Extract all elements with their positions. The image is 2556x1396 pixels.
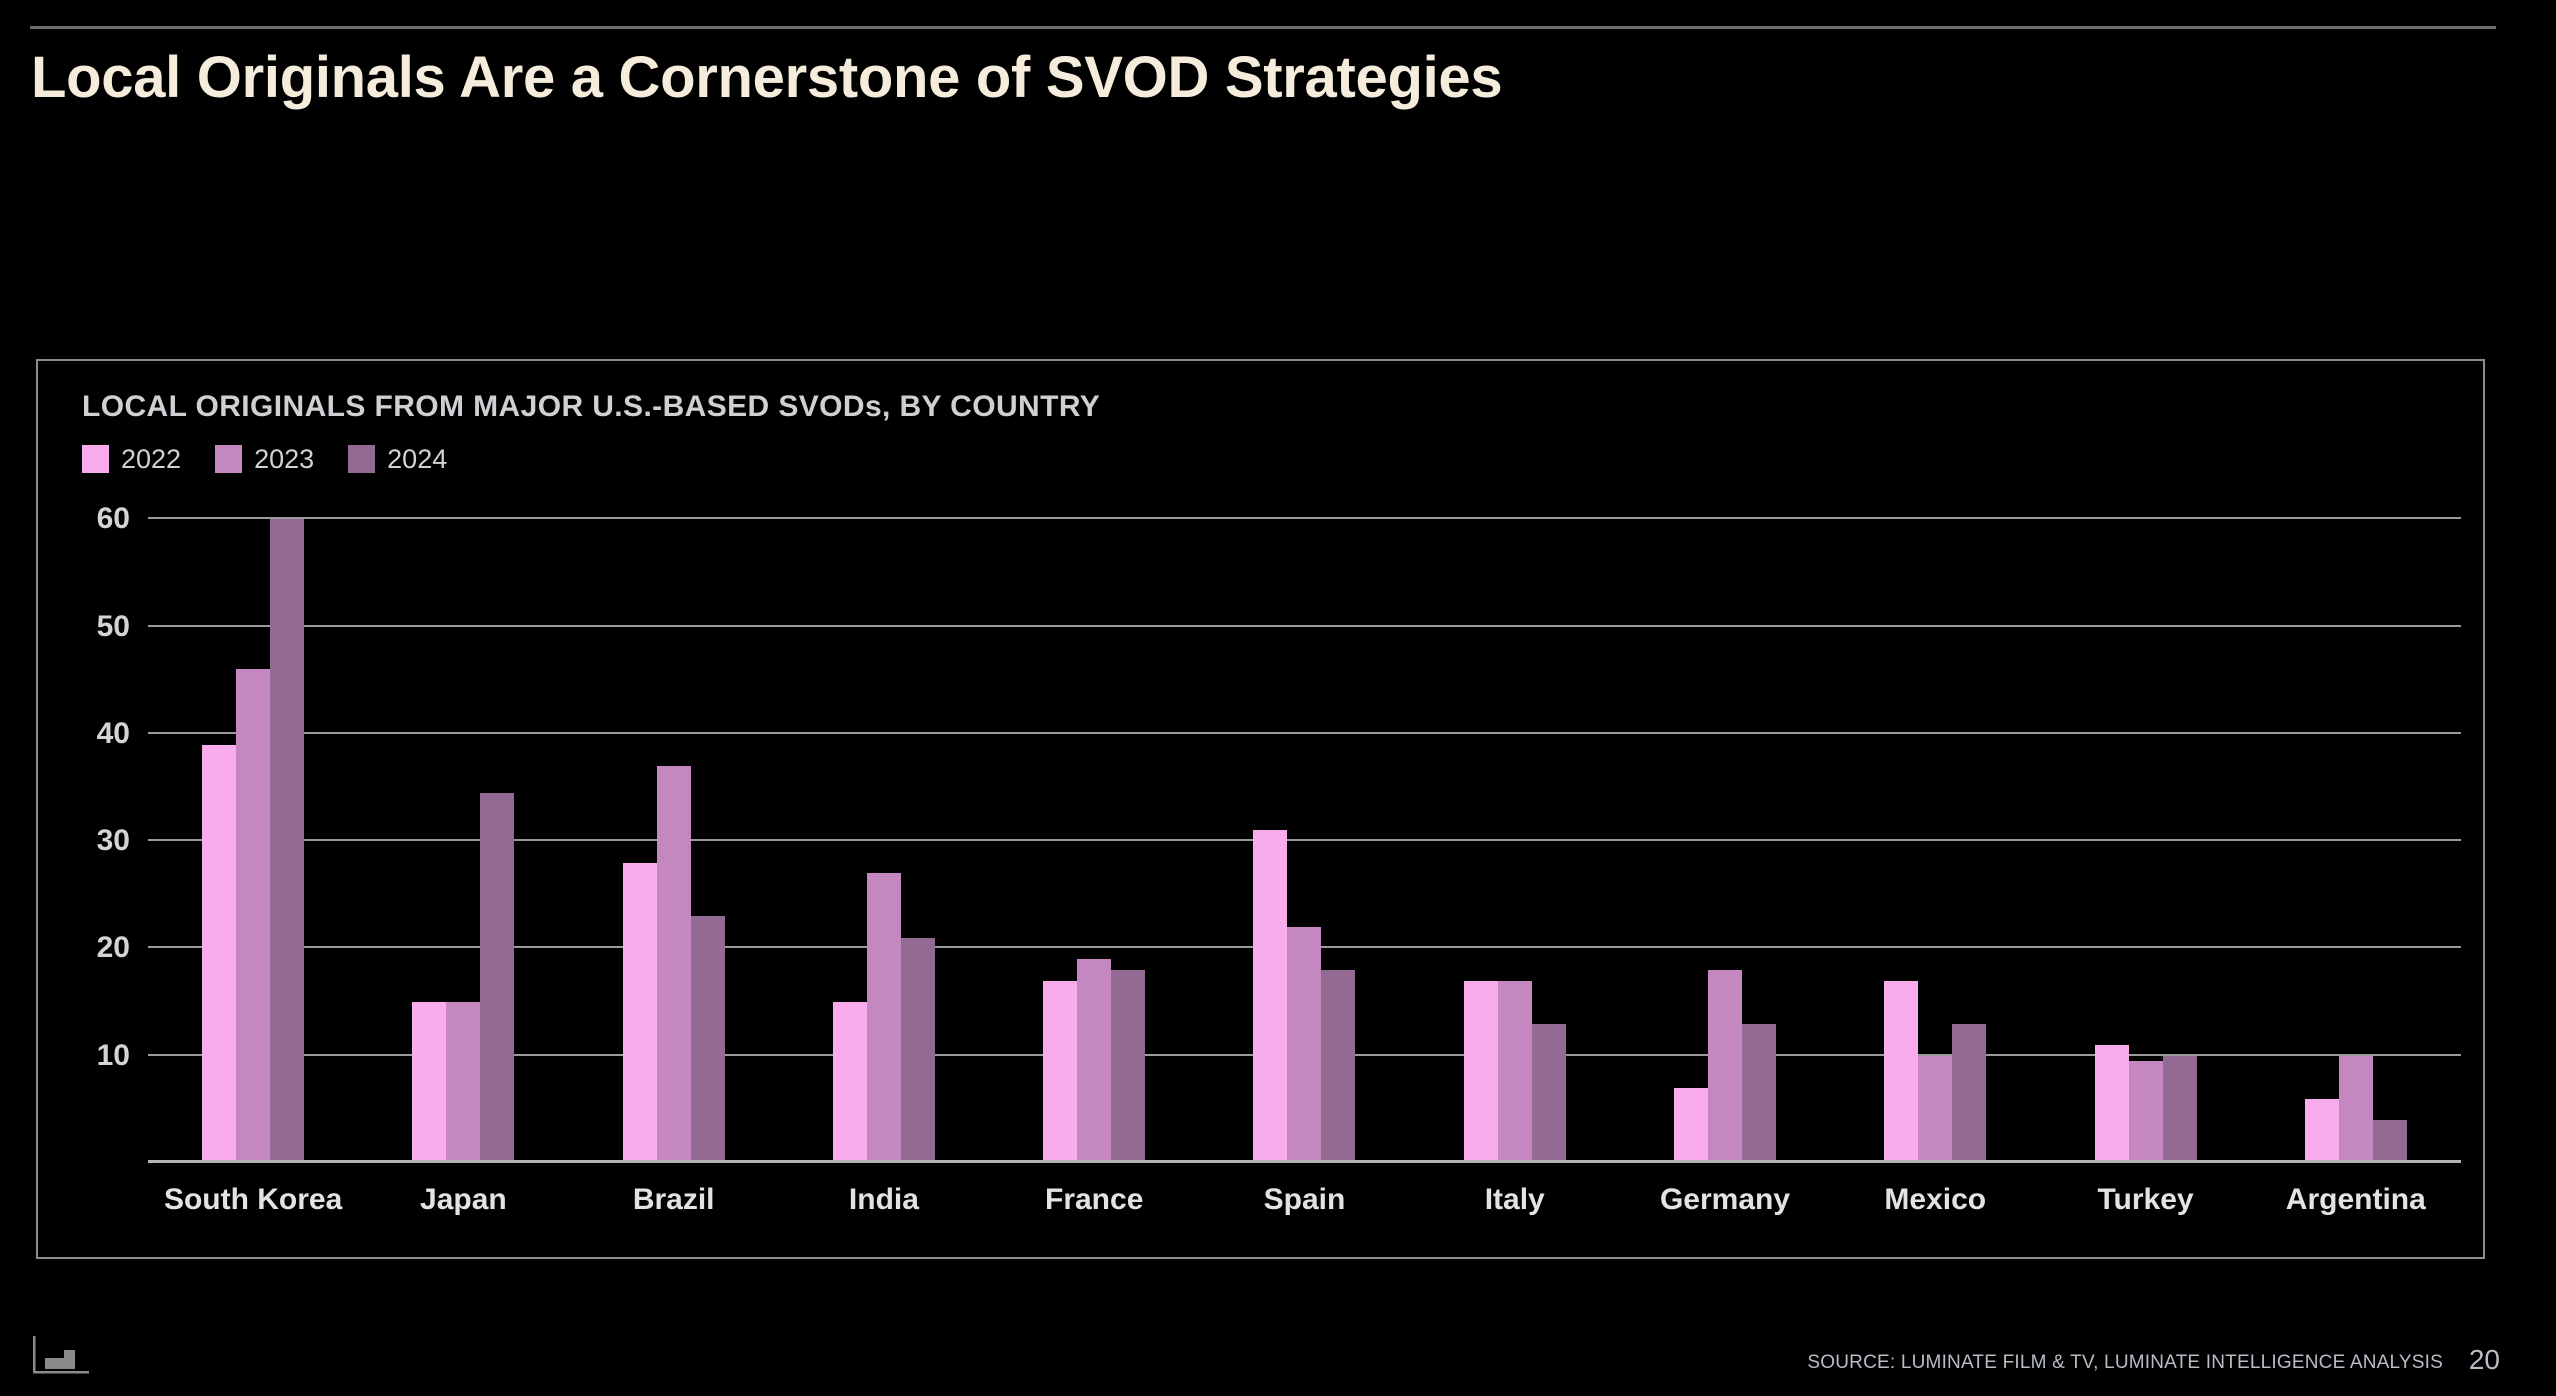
bar-group-italy (1410, 487, 1620, 1163)
legend-item-2023[interactable]: 2023 (215, 445, 314, 473)
bar-france-2022[interactable] (1043, 981, 1077, 1163)
x-tick-label-brazil: Brazil (569, 1183, 779, 1227)
bar-germany-2024[interactable] (1742, 1024, 1776, 1163)
bar-germany-2023[interactable] (1708, 970, 1742, 1163)
x-tick-label-south-korea: South Korea (148, 1183, 358, 1227)
x-axis-line (148, 1160, 2461, 1163)
bar-france-2024[interactable] (1111, 970, 1145, 1163)
bar-mexico-2024[interactable] (1952, 1024, 1986, 1163)
bar-brazil-2023[interactable] (657, 766, 691, 1163)
header-divider (30, 26, 2496, 29)
legend-label-2022: 2022 (121, 446, 181, 473)
y-tick-label-60: 60 (97, 502, 130, 536)
luminate-bar-mark-icon (31, 1336, 93, 1376)
bar-italy-2022[interactable] (1464, 981, 1498, 1163)
bar-group-mexico (1830, 487, 2040, 1163)
bar-argentina-2022[interactable] (2305, 1099, 2339, 1163)
bar-brazil-2022[interactable] (623, 863, 657, 1163)
bar-argentina-2024[interactable] (2373, 1120, 2407, 1163)
bar-italy-2024[interactable] (1532, 1024, 1566, 1163)
bar-group-south-korea (148, 487, 358, 1163)
x-tick-label-spain: Spain (1199, 1183, 1409, 1227)
bar-italy-2023[interactable] (1498, 981, 1532, 1163)
chart-legend: 202220232024 (82, 445, 447, 473)
bar-south-korea-2023[interactable] (236, 669, 270, 1163)
y-tick-label-30: 30 (97, 824, 130, 858)
legend-label-2023: 2023 (254, 446, 314, 473)
source-note: SOURCE: LUMINATE FILM & TV, LUMINATE INT… (1807, 1352, 2443, 1374)
bar-groups (148, 487, 2461, 1163)
y-tick-label-50: 50 (97, 610, 130, 644)
bar-argentina-2023[interactable] (2339, 1056, 2373, 1163)
bar-france-2023[interactable] (1077, 959, 1111, 1163)
page-title: Local Originals Are a Cornerstone of SVO… (31, 44, 1502, 111)
bar-brazil-2024[interactable] (691, 916, 725, 1163)
bar-south-korea-2022[interactable] (202, 745, 236, 1163)
bar-south-korea-2024[interactable] (270, 519, 304, 1163)
x-tick-label-mexico: Mexico (1830, 1183, 2040, 1227)
bar-group-argentina (2251, 487, 2461, 1163)
y-tick-label-40: 40 (97, 717, 130, 751)
bar-turkey-2023[interactable] (2129, 1061, 2163, 1163)
chart-title: LOCAL ORIGINALS FROM MAJOR U.S.-BASED SV… (82, 390, 1100, 424)
x-tick-label-turkey: Turkey (2040, 1183, 2250, 1227)
x-tick-label-france: France (989, 1183, 1199, 1227)
legend-item-2024[interactable]: 2024 (348, 445, 447, 473)
bar-spain-2024[interactable] (1321, 970, 1355, 1163)
y-tick-label-20: 20 (97, 931, 130, 965)
bar-india-2023[interactable] (867, 873, 901, 1163)
bar-group-india (779, 487, 989, 1163)
bar-turkey-2024[interactable] (2163, 1056, 2197, 1163)
bar-group-japan (358, 487, 568, 1163)
bar-group-germany (1620, 487, 1830, 1163)
plot-area (148, 487, 2461, 1163)
x-tick-label-india: India (779, 1183, 989, 1227)
bar-group-turkey (2040, 487, 2250, 1163)
y-tick-label-10: 10 (97, 1039, 130, 1073)
legend-swatch-2024 (348, 445, 375, 473)
bar-mexico-2022[interactable] (1884, 981, 1918, 1163)
page-number: 20 (2469, 1344, 2500, 1376)
bar-group-spain (1199, 487, 1409, 1163)
legend-swatch-2023 (215, 445, 242, 473)
x-tick-label-argentina: Argentina (2251, 1183, 2461, 1227)
bar-group-france (989, 487, 1199, 1163)
chart-panel: LOCAL ORIGINALS FROM MAJOR U.S.-BASED SV… (36, 359, 2485, 1259)
bar-spain-2023[interactable] (1287, 927, 1321, 1163)
bar-group-brazil (569, 487, 779, 1163)
x-axis-labels: South KoreaJapanBrazilIndiaFranceSpainIt… (148, 1183, 2461, 1227)
bar-india-2024[interactable] (901, 938, 935, 1163)
bar-spain-2022[interactable] (1253, 830, 1287, 1163)
plot-wrapper: 102030405060 South KoreaJapanBrazilIndia… (82, 487, 2461, 1241)
x-tick-label-japan: Japan (358, 1183, 568, 1227)
bar-japan-2022[interactable] (412, 1002, 446, 1163)
x-tick-label-germany: Germany (1620, 1183, 1830, 1227)
legend-label-2024: 2024 (387, 446, 447, 473)
bar-japan-2024[interactable] (480, 793, 514, 1163)
bar-japan-2023[interactable] (446, 1002, 480, 1163)
legend-swatch-2022 (82, 445, 109, 473)
bar-india-2022[interactable] (833, 1002, 867, 1163)
legend-item-2022[interactable]: 2022 (82, 445, 181, 473)
y-axis-labels: 102030405060 (82, 487, 148, 1163)
bar-mexico-2023[interactable] (1918, 1056, 1952, 1163)
bar-turkey-2022[interactable] (2095, 1045, 2129, 1163)
bar-germany-2022[interactable] (1674, 1088, 1708, 1163)
x-tick-label-italy: Italy (1410, 1183, 1620, 1227)
